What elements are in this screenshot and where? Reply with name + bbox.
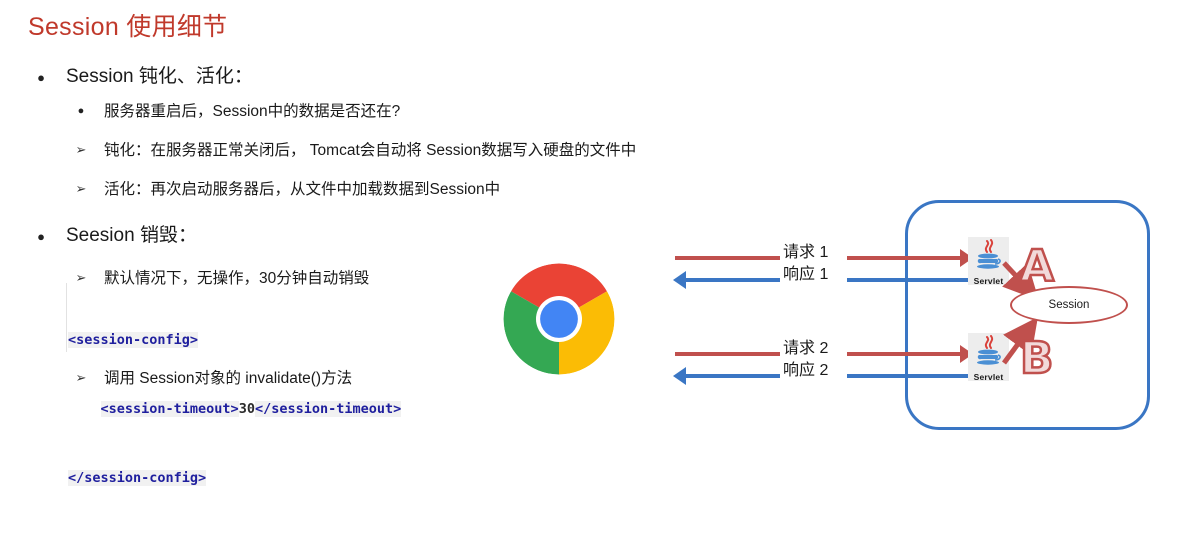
code-block-divider [66, 283, 67, 352]
code-tag: <session-config> [68, 332, 198, 348]
servlet-node-2: Servlet [968, 333, 1009, 381]
code-line: <session-config> [68, 329, 401, 352]
java-servlet-icon [974, 239, 1004, 271]
list-item-label: 活化：再次启动服务器后，从文件中加载数据到Session中 [104, 176, 500, 203]
spacer [0, 168, 700, 176]
bullet-marker-dot-icon: ● [72, 98, 90, 117]
spacer [0, 129, 700, 137]
servlet-node-1: Servlet [968, 237, 1009, 285]
servlet-caption: Servlet [974, 276, 1004, 286]
list-item: ● Seesion 销毁： [0, 221, 700, 251]
list-item: ● 服务器重启后，Session中的数据是否还在? [0, 98, 700, 125]
code-tag: </session-config> [68, 470, 206, 486]
response-line-segment-left [685, 278, 785, 282]
list-item-label: 钝化：在服务器正常关闭后， Tomcat会自动将 Session数据写入硬盘的文… [104, 137, 636, 164]
session-node-label: Session [1049, 299, 1090, 311]
code-tag: <session-timeout> [101, 401, 239, 417]
response-line-segment-left [685, 374, 785, 378]
request-label-2: 请求 2 [780, 338, 831, 360]
list-item-label: 服务器重启后，Session中的数据是否还在? [104, 98, 400, 125]
code-line: </session-config> [68, 467, 401, 490]
servlet-caption: Servlet [974, 372, 1004, 382]
session-node: Session [1010, 286, 1128, 324]
request-line-segment-left [675, 256, 785, 260]
bullet-marker-arrow-icon: ➢ [72, 365, 90, 384]
bullet-marker-arrow-icon: ➢ [72, 137, 90, 156]
session-sharing-diagram: 请求 1 响应 1 请求 2 响应 2 [660, 185, 1178, 443]
list-item: ● Session 钝化、活化： [0, 62, 700, 92]
java-servlet-icon [974, 335, 1004, 367]
list-item: ➢ 调用 Session对象的 invalidate()方法 [0, 365, 352, 392]
arrow-label-b: B [1020, 337, 1054, 381]
request-line-segment-left [675, 352, 785, 356]
response-line-segment-right [847, 278, 973, 282]
bullet-marker-dot-icon: ● [30, 221, 52, 243]
code-tag: </session-timeout> [255, 401, 401, 417]
spacer [0, 207, 700, 221]
request-label-1: 请求 1 [780, 242, 831, 264]
code-indent [68, 401, 101, 417]
slide-canvas: Session 使用细节 ● Session 钝化、活化： ● 服务器重启后，S… [0, 0, 1178, 446]
list-item-label: Seesion 销毁： [66, 221, 197, 251]
bullet-marker-arrow-icon: ➢ [72, 176, 90, 195]
code-line: <session-timeout>30</session-timeout> [68, 398, 401, 421]
bullet-marker-dot-icon: ● [30, 62, 52, 84]
arrow-label-a: A [1020, 245, 1054, 289]
list-item-label: 调用 Session对象的 invalidate()方法 [104, 365, 352, 392]
code-block: <session-config> <session-timeout>30</se… [68, 283, 401, 536]
list-item-label: Session 钝化、活化： [66, 62, 253, 92]
response-label-1: 响应 1 [780, 264, 831, 286]
page-title: Session 使用细节 [28, 10, 228, 44]
chrome-logo-icon [500, 260, 618, 378]
request-line-segment-right [847, 352, 965, 356]
list-item: ➢ 活化：再次启动服务器后，从文件中加载数据到Session中 [0, 176, 700, 203]
list-item: ➢ 钝化：在服务器正常关闭后， Tomcat会自动将 Session数据写入硬盘… [0, 137, 700, 164]
bullet-marker-arrow-icon: ➢ [72, 265, 90, 284]
request-line-segment-right [847, 256, 965, 260]
response-line-segment-right [847, 374, 973, 378]
response-label-2: 响应 2 [780, 360, 831, 382]
code-value: 30 [239, 401, 255, 417]
